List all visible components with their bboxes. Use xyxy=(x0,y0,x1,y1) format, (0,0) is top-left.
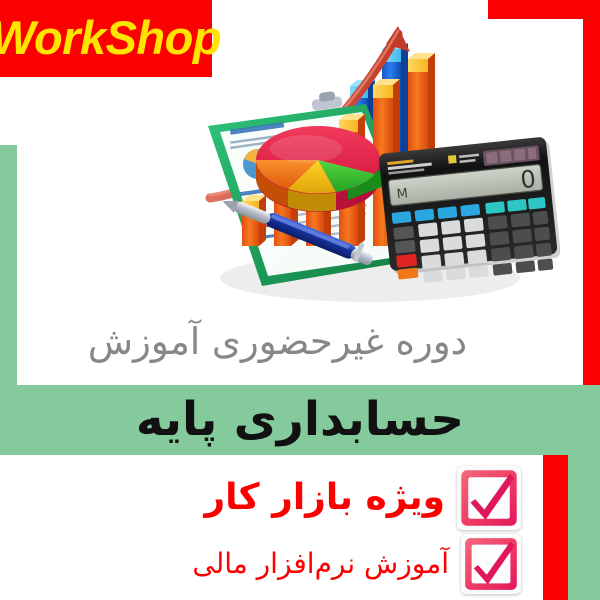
calculator: M 0 xyxy=(378,136,560,286)
poster-canvas: WorkShop xyxy=(0,0,600,600)
checkbox-checked-icon xyxy=(461,534,521,594)
list-item: ویژه بازار کار xyxy=(204,466,543,530)
title-row: حسابداری پایه xyxy=(0,385,600,455)
workshop-label: WorkShop xyxy=(0,14,221,64)
red-right-stripe-decoration xyxy=(583,0,600,400)
page-title: حسابداری پایه xyxy=(136,394,464,446)
bullet-label: آموزش نرم‌افزار مالی xyxy=(192,548,449,580)
green-right-lower-decoration xyxy=(568,455,600,600)
accounting-illustration: M 0 xyxy=(170,8,560,313)
checkbox-checked-icon xyxy=(457,466,521,530)
svg-text:0: 0 xyxy=(519,165,537,194)
subtitle-text: دوره غیرحضوری آموزش xyxy=(88,322,467,363)
list-item: آموزش نرم‌افزار مالی xyxy=(192,534,543,594)
subtitle-row: دوره غیرحضوری آموزش xyxy=(0,312,555,372)
red-lower-stripe-decoration xyxy=(543,455,568,600)
bullet-label: ویژه بازار کار xyxy=(204,477,445,518)
workshop-badge: WorkShop xyxy=(0,0,212,77)
svg-text:M: M xyxy=(396,186,409,202)
bullet-list: ویژه بازار کار آموزش نرم‌ xyxy=(0,462,543,596)
